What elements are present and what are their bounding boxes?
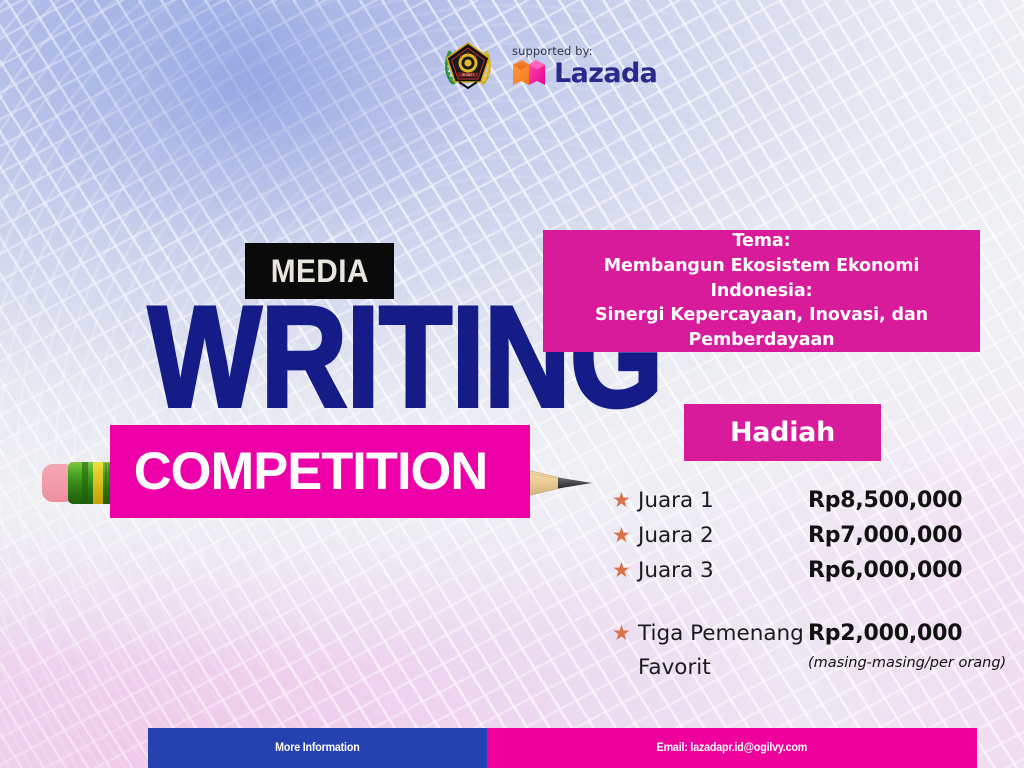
favorite-prize-amount: Rp2,000,000 [808,621,962,646]
theme-line-1: Membangun Ekosistem Ekonomi Indonesia: [551,254,972,304]
prize-list: ★ Juara 1 Rp8,500,000 ★ Juara 2 Rp7,000,… [612,488,1022,689]
prizes-heading-label: Hadiah [730,417,835,448]
lazada-logo: Lazada [512,59,657,89]
prize-label: Juara 1 [638,488,714,513]
favorite-prize-label-line2: Favorit [638,655,711,680]
email-contact-label: Email: lazadapr.id@ogilvy.com [657,742,807,754]
sponsor-block: supported by: [512,44,657,89]
star-icon: ★ [612,525,638,546]
favorite-prize-note: (masing-masing/per orang) [808,655,1006,671]
prize-amount: Rp7,000,000 [808,523,962,548]
svg-text:BHAKTI: BHAKTI [462,73,474,77]
more-information-button[interactable]: More Information [148,728,487,768]
star-icon-placeholder: ★ [612,657,638,678]
prize-row: ★ Juara 1 Rp8,500,000 [612,488,1022,523]
lazada-wordmark: Lazada [554,60,657,87]
theme-line-0: Tema: [732,229,790,254]
theme-box: Tema: Membangun Ekosistem Ekonomi Indone… [543,230,980,352]
theme-line-2: Sinergi Kepercayaan, Inovasi, dan [595,303,928,328]
supported-by-label: supported by: [512,44,657,58]
favorite-prize-label-line1: Tiga Pemenang [638,621,804,646]
title-competition-bar: COMPETITION [110,425,530,518]
prize-label: Juara 2 [638,523,714,548]
header-logos: BHAKTI supported by: [440,38,657,94]
poster-canvas: BHAKTI supported by: [0,0,1024,768]
more-information-label: More Information [275,742,359,754]
prize-row: ★ Juara 3 Rp6,000,000 [612,558,1022,593]
lazada-heart-box-icon [512,59,546,89]
prize-row: ★ Juara 2 Rp7,000,000 [612,523,1022,558]
favorite-prize-row-second-line: ★ Favorit (masing-masing/per orang) [612,655,1022,689]
prize-amount: Rp6,000,000 [808,558,962,583]
institution-seal-icon: BHAKTI [440,38,496,94]
prize-amount: Rp8,500,000 [808,488,962,513]
star-icon: ★ [612,623,638,644]
star-icon: ★ [612,490,638,511]
footer-bar: More Information Email: lazadapr.id@ogil… [148,728,977,768]
star-icon: ★ [612,560,638,581]
prize-label: Juara 3 [638,558,714,583]
title-competition-label: COMPETITION [134,441,487,502]
email-contact-button[interactable]: Email: lazadapr.id@ogilvy.com [487,728,977,768]
theme-line-3: Pemberdayaan [688,328,834,353]
prizes-heading-box: Hadiah [684,404,881,461]
favorite-prize-row: ★ Tiga Pemenang Rp2,000,000 [612,621,1022,655]
prize-list-spacer [612,593,1022,621]
